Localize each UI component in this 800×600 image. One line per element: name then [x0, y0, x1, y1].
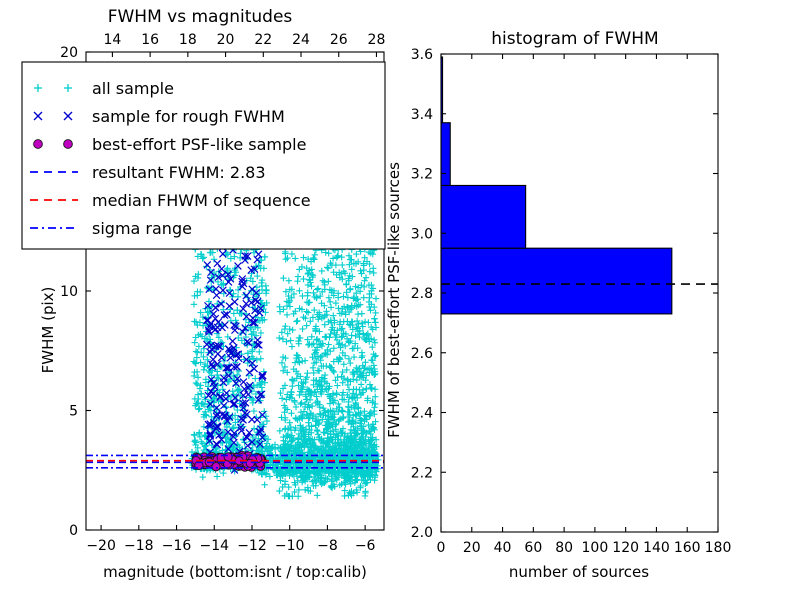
scatter-xtick-label-top: 14 [103, 32, 121, 48]
legend: all samplesample for rough FWHMbest-effo… [22, 62, 385, 249]
scatter-ytick-label: 0 [69, 523, 78, 539]
scatter-ytick-label: 5 [69, 404, 78, 420]
scatter-ytick-label: 10 [60, 284, 78, 300]
histogram-xtick-label: 60 [524, 540, 542, 556]
legend-entry-label: sample for rough FWHM [92, 107, 285, 126]
scatter-ytick-label: 20 [60, 45, 78, 61]
scatter-xtick-label-top: 22 [254, 32, 272, 48]
scatter-xtick-label-top: 24 [292, 32, 310, 48]
histogram-xtick-label: 20 [463, 540, 481, 556]
scatter-xtick-label-top: 20 [217, 32, 235, 48]
histogram-xtick-label: 80 [555, 540, 573, 556]
histogram-ytick-label: 3.0 [411, 226, 433, 242]
legend-frame [22, 62, 385, 249]
scatter-ylabel: FWHM (pix) [39, 287, 57, 374]
legend-entry-label: all sample [92, 79, 174, 98]
histogram-ytick-label: 2.6 [411, 346, 433, 362]
legend-entry-label: median FHWM of sequence [92, 191, 311, 210]
scatter-xtick-label-top: 26 [330, 32, 348, 48]
histogram-ytick-label: 2.0 [411, 525, 433, 541]
histogram-xtick-label: 160 [674, 540, 701, 556]
histogram-ytick-label: 3.6 [411, 47, 433, 63]
histogram-ytick-label: 2.2 [411, 465, 433, 481]
legend-circle-icon [34, 140, 43, 149]
scatter-panel-title: FWHM vs magnitudes [108, 7, 293, 27]
scatter-xtick-label: −18 [124, 538, 154, 554]
scatter-xtick-label: −14 [199, 538, 229, 554]
scatter-xtick-label-top: 16 [141, 32, 159, 48]
scatter-xtick-label: −20 [86, 538, 116, 554]
histogram-xlabel: number of sources [509, 563, 649, 581]
scatter-xlabel: magnitude (bottom:isnt / top:calib) [103, 563, 367, 581]
histogram-xtick-label: 0 [437, 540, 446, 556]
histogram-xtick-label: 140 [643, 540, 670, 556]
histogram-bar [441, 248, 672, 314]
histogram-xtick-label: 120 [612, 540, 639, 556]
legend-entry-label: resultant FWHM: 2.83 [92, 163, 266, 182]
scatter-point-psf [212, 463, 220, 471]
histogram-ytick-label: 2.4 [411, 406, 433, 422]
figure-canvas: FWHM vs magnitudes −20−18−16−14−12−10−8−… [0, 0, 800, 600]
legend-entry-label: sigma range [92, 219, 192, 238]
histogram-bar [441, 185, 526, 248]
histogram-ytick-label: 2.8 [411, 286, 433, 302]
histogram-xtick-label: 180 [705, 540, 732, 556]
histogram-xtick-label: 40 [494, 540, 512, 556]
scatter-xtick-label: −10 [275, 538, 305, 554]
scatter-point-psf [224, 453, 232, 461]
scatter-xtick-label: −16 [162, 538, 192, 554]
scatter-xtick-label: −8 [317, 538, 338, 554]
histogram-xtick-label: 100 [582, 540, 609, 556]
histogram-bar [441, 123, 450, 186]
histogram-panel-title: histogram of FWHM [491, 29, 658, 49]
histogram-ylabel: FWHM of best-effort PSF-like sources [385, 162, 403, 438]
histogram-ytick-label: 3.4 [411, 107, 433, 123]
histogram-ytick-label: 3.2 [411, 167, 433, 183]
scatter-xtick-label: −12 [237, 538, 267, 554]
scatter-xtick-label-top: 18 [179, 32, 197, 48]
scatter-xtick-label: −6 [355, 538, 376, 554]
legend-circle-icon [64, 140, 73, 149]
scatter-xtick-label-top: 28 [368, 32, 386, 48]
legend-entry-label: best-effort PSF-like sample [92, 135, 306, 154]
